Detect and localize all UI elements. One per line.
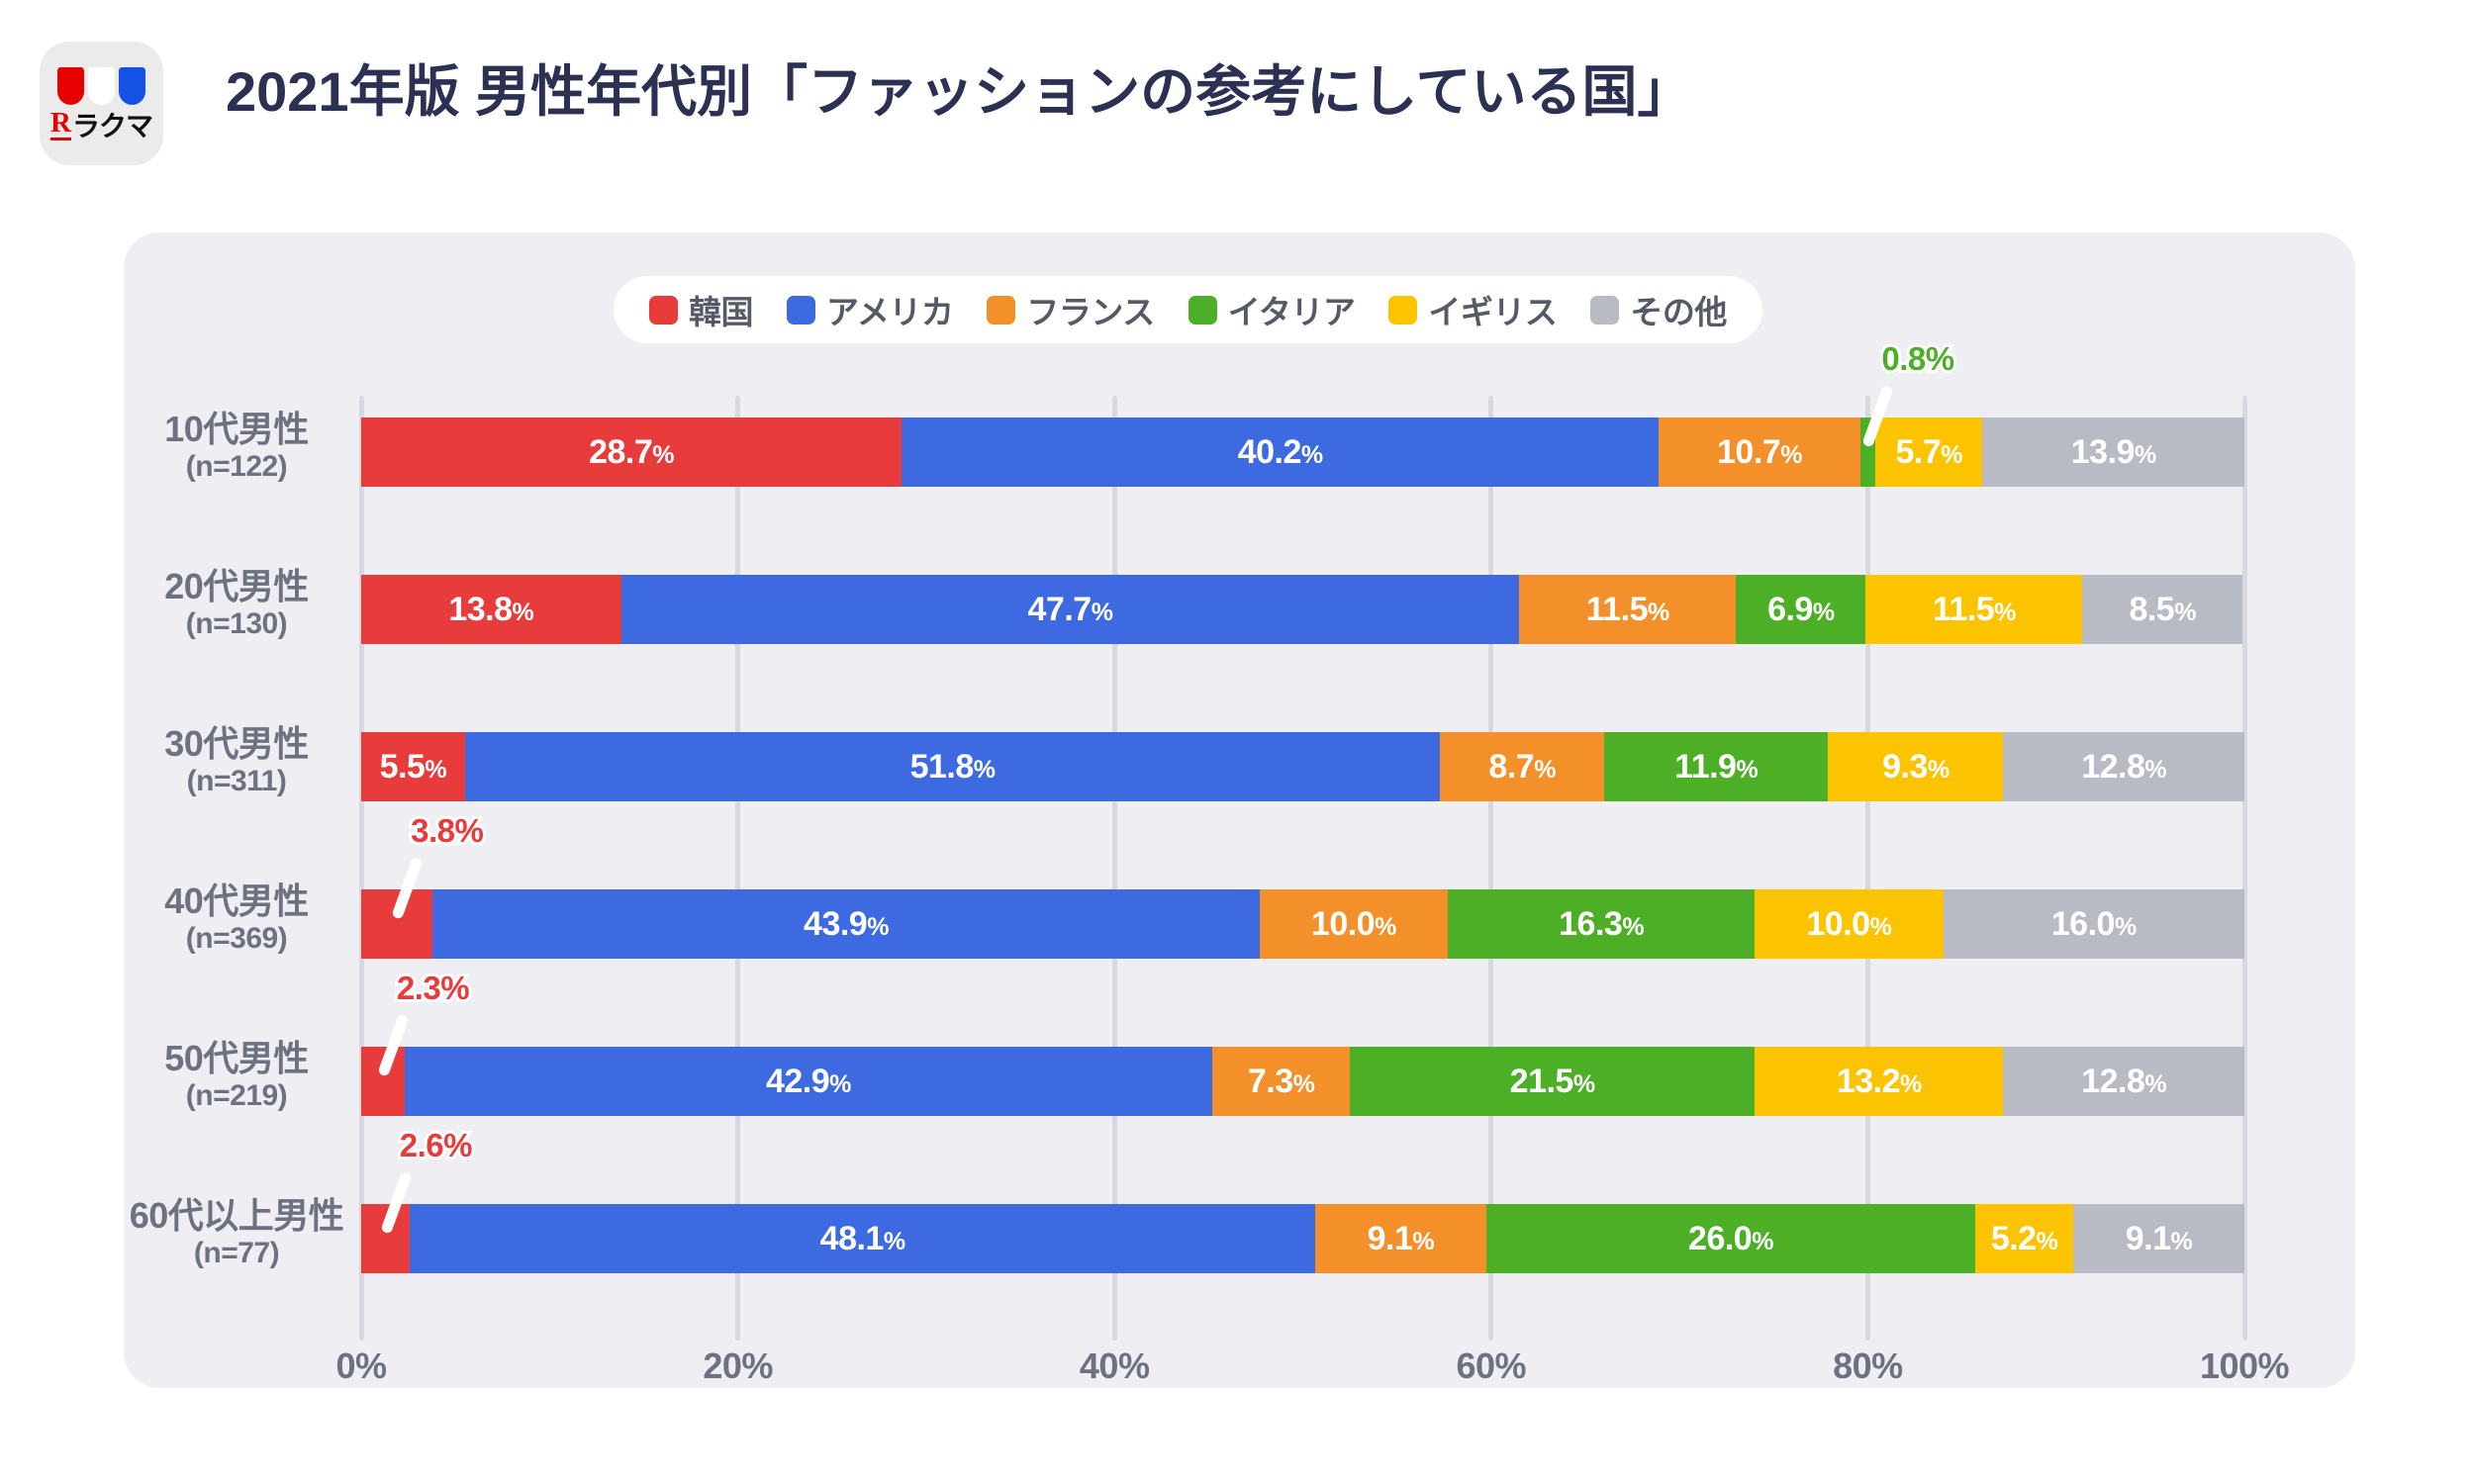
bar-segment-value: 10.0% — [1806, 907, 1891, 941]
bar-segment-value: 11.9% — [1674, 750, 1758, 784]
bar-segment-value: 13.2% — [1837, 1065, 1922, 1098]
x-axis-tick-80: 80% — [1833, 1345, 1903, 1387]
bar-segment[interactable]: 40.2% — [902, 417, 1659, 487]
bar-segment-value: 11.5% — [1586, 593, 1669, 626]
logo-cup-red-icon — [57, 67, 84, 105]
bar-segment[interactable]: 12.8% — [2003, 1047, 2244, 1116]
legend-label: イギリス — [1428, 286, 1557, 333]
y-axis-label-4: 50代男性(n=219) — [124, 1038, 349, 1114]
y-axis-label-main: 40代男性 — [124, 881, 349, 922]
callout-value-label: 2.3% — [397, 970, 469, 1007]
legend-item-5[interactable]: その他 — [1590, 286, 1727, 333]
gridline-20 — [735, 396, 740, 1341]
bar-segment[interactable]: 5.7% — [1875, 417, 1982, 487]
bar-segment-value: 10.7% — [1717, 435, 1802, 469]
gridline-0 — [359, 396, 364, 1341]
bar-row: 28.7%40.2%10.7%5.7%13.9% — [361, 417, 2244, 487]
bar-segment-value: 8.5% — [2129, 593, 2196, 626]
bar-segment[interactable]: 10.0% — [1260, 889, 1448, 959]
bar-segment-value: 9.3% — [1882, 750, 1950, 784]
bar-segment-value: 7.3% — [1248, 1065, 1315, 1098]
bar-segment-value: 9.1% — [1368, 1222, 1435, 1255]
bar-segment-value: 40.2% — [1238, 435, 1323, 469]
bar-segment[interactable]: 5.5% — [361, 732, 465, 801]
bar-segment-value: 26.0% — [1688, 1222, 1773, 1255]
legend-swatch-icon — [987, 296, 1015, 325]
bar-segment-value: 13.9% — [2071, 435, 2156, 469]
callout-value-label: 2.6% — [400, 1127, 472, 1164]
logo-wordmark: R ラクマ — [50, 109, 152, 140]
bar-segment[interactable] — [361, 1204, 410, 1273]
x-axis-tick-60: 60% — [1457, 1345, 1527, 1387]
bar-segment-value: 42.9% — [766, 1065, 851, 1098]
logo-text-label: ラクマ — [72, 113, 152, 140]
x-axis-tick-100: 100% — [2200, 1345, 2289, 1387]
page-header: R ラクマ 2021年版 男性年代別「ファッションの参考にしている国」 — [0, 0, 2474, 232]
bar-segment[interactable]: 16.0% — [1944, 889, 2244, 959]
bar-segment-value: 16.0% — [2051, 907, 2137, 941]
bar-segment[interactable]: 8.7% — [1440, 732, 1604, 801]
logo-cup-blue-icon — [119, 67, 145, 105]
y-axis-label-main: 60代以上男性 — [124, 1195, 349, 1237]
y-axis-label-main: 30代男性 — [124, 723, 349, 765]
legend-swatch-icon — [1189, 296, 1217, 325]
legend-item-4[interactable]: イギリス — [1388, 286, 1557, 333]
y-axis-label-count: (n=130) — [124, 607, 349, 642]
bar-segment[interactable]: 16.3% — [1448, 889, 1755, 959]
bar-segment[interactable]: 6.9% — [1736, 575, 1865, 644]
x-axis-tick-40: 40% — [1080, 1345, 1150, 1387]
gridline-60 — [1488, 396, 1493, 1341]
bar-segment-value: 43.9% — [804, 907, 889, 941]
bar-segment-value: 11.5% — [1933, 593, 2016, 626]
bar-row: 42.9%7.3%21.5%13.2%12.8% — [361, 1047, 2244, 1116]
page-title: 2021年版 男性年代別「ファッションの参考にしている国」 — [226, 47, 1692, 128]
bar-segment[interactable]: 26.0% — [1486, 1204, 1975, 1273]
bar-segment[interactable]: 11.9% — [1604, 732, 1828, 801]
gridline-100 — [2242, 396, 2247, 1341]
bar-segment-value: 48.1% — [820, 1222, 905, 1255]
legend-label: アメリカ — [826, 286, 953, 333]
bar-segment[interactable] — [361, 889, 432, 959]
bar-segment-value: 5.7% — [1895, 435, 1962, 469]
bar-segment[interactable]: 10.7% — [1659, 417, 1860, 487]
bar-segment[interactable]: 9.1% — [1315, 1204, 1486, 1273]
bar-segment[interactable]: 11.5% — [1865, 575, 2082, 644]
logo-mark-icon — [57, 67, 145, 105]
logo-cup-white-icon — [88, 67, 115, 105]
bar-segment[interactable]: 51.8% — [465, 732, 1441, 801]
y-axis-label-0: 10代男性(n=122) — [124, 409, 349, 485]
bar-segment-value: 6.9% — [1767, 593, 1835, 626]
legend-label: フランス — [1026, 286, 1154, 333]
bar-segment[interactable]: 28.7% — [361, 417, 902, 487]
bar-segment[interactable]: 9.3% — [1828, 732, 2003, 801]
bar-segment-value: 21.5% — [1510, 1065, 1595, 1098]
bar-segment[interactable]: 12.8% — [2003, 732, 2244, 801]
legend-item-2[interactable]: フランス — [987, 286, 1154, 333]
legend-label: その他 — [1630, 286, 1727, 333]
legend-label: 韓国 — [689, 286, 753, 333]
bar-segment[interactable]: 9.1% — [2073, 1204, 2244, 1273]
callout-value-label: 0.8% — [1881, 340, 1953, 378]
bar-segment[interactable]: 5.2% — [1975, 1204, 2073, 1273]
bar-segment-value: 28.7% — [589, 435, 674, 469]
bar-segment-value: 47.7% — [1028, 593, 1113, 626]
bar-segment-value: 5.2% — [1991, 1222, 2058, 1255]
legend-label: イタリア — [1228, 286, 1356, 333]
x-axis-tick-labels: 0%20%40%60%80%100% — [361, 1345, 2244, 1405]
bar-segment[interactable]: 13.2% — [1755, 1047, 2003, 1116]
bar-segment[interactable]: 13.8% — [361, 575, 621, 644]
gridline-80 — [1865, 396, 1870, 1341]
bar-segment-value: 8.7% — [1488, 750, 1556, 784]
bar-segment[interactable]: 21.5% — [1350, 1047, 1755, 1116]
y-axis-label-main: 20代男性 — [124, 566, 349, 607]
bar-segment-value: 13.8% — [448, 593, 533, 626]
bar-segment[interactable] — [1860, 417, 1875, 487]
x-axis-tick-0: 0% — [335, 1345, 386, 1387]
y-axis-label-count: (n=311) — [124, 765, 349, 799]
chart-legend: 韓国アメリカフランスイタリアイギリスその他 — [614, 276, 1762, 343]
bar-segment[interactable]: 8.5% — [2082, 575, 2242, 644]
bar-row: 5.5%51.8%8.7%11.9%9.3%12.8% — [361, 732, 2244, 801]
y-axis-label-main: 50代男性 — [124, 1038, 349, 1079]
logo-initial: R — [50, 109, 71, 140]
bar-segment-value: 5.5% — [380, 750, 447, 784]
bar-segment-value: 10.0% — [1311, 907, 1396, 941]
legend-swatch-icon — [649, 296, 678, 325]
callout-value-label: 3.8% — [411, 812, 483, 850]
legend-swatch-icon — [1388, 296, 1417, 325]
bar-segment[interactable]: 47.7% — [621, 575, 1520, 644]
bar-segment-value: 12.8% — [2081, 750, 2166, 784]
bar-segment[interactable]: 11.5% — [1519, 575, 1736, 644]
bar-segment[interactable]: 10.0% — [1755, 889, 1943, 959]
chart-plot-area: 28.7%40.2%10.7%5.7%13.9%13.8%47.7%11.5%6… — [361, 396, 2244, 1341]
y-axis-label-count: (n=77) — [124, 1237, 349, 1271]
y-axis-label-main: 10代男性 — [124, 409, 349, 450]
y-axis-label-count: (n=369) — [124, 922, 349, 957]
bar-segment-value: 12.8% — [2081, 1065, 2166, 1098]
legend-swatch-icon — [1590, 296, 1619, 325]
y-axis-label-count: (n=219) — [124, 1079, 349, 1114]
bar-row: 43.9%10.0%16.3%10.0%16.0% — [361, 889, 2244, 959]
gridline-40 — [1112, 396, 1117, 1341]
bar-segment[interactable]: 7.3% — [1212, 1047, 1350, 1116]
y-axis-category-labels: 10代男性(n=122)20代男性(n=130)30代男性(n=311)40代男… — [124, 396, 361, 1341]
y-axis-label-2: 30代男性(n=311) — [124, 723, 349, 799]
legend-item-3[interactable]: イタリア — [1189, 286, 1356, 333]
bar-segment[interactable]: 42.9% — [405, 1047, 1212, 1116]
bar-segment-value: 51.8% — [910, 750, 996, 784]
legend-item-0[interactable]: 韓国 — [649, 286, 753, 333]
y-axis-label-count: (n=122) — [124, 450, 349, 485]
y-axis-label-3: 40代男性(n=369) — [124, 881, 349, 957]
legend-swatch-icon — [787, 296, 815, 325]
legend-item-1[interactable]: アメリカ — [787, 286, 953, 333]
bar-row: 48.1%9.1%26.0%5.2%9.1% — [361, 1204, 2244, 1273]
bar-segment-value: 16.3% — [1559, 907, 1644, 941]
rakuma-logo: R ラクマ — [40, 42, 163, 165]
chart-panel: 韓国アメリカフランスイタリアイギリスその他 10代男性(n=122)20代男性(… — [124, 232, 2355, 1388]
bar-row: 13.8%47.7%11.5%6.9%11.5%8.5% — [361, 575, 2244, 644]
bar-segment[interactable]: 43.9% — [432, 889, 1259, 959]
x-axis-tick-20: 20% — [703, 1345, 773, 1387]
bar-segment[interactable] — [361, 1047, 405, 1116]
y-axis-label-1: 20代男性(n=130) — [124, 566, 349, 642]
y-axis-label-5: 60代以上男性(n=77) — [124, 1195, 349, 1271]
bar-segment-value: 9.1% — [2126, 1222, 2193, 1255]
bar-segment[interactable]: 48.1% — [410, 1204, 1314, 1273]
bar-segment[interactable]: 13.9% — [1982, 417, 2244, 487]
